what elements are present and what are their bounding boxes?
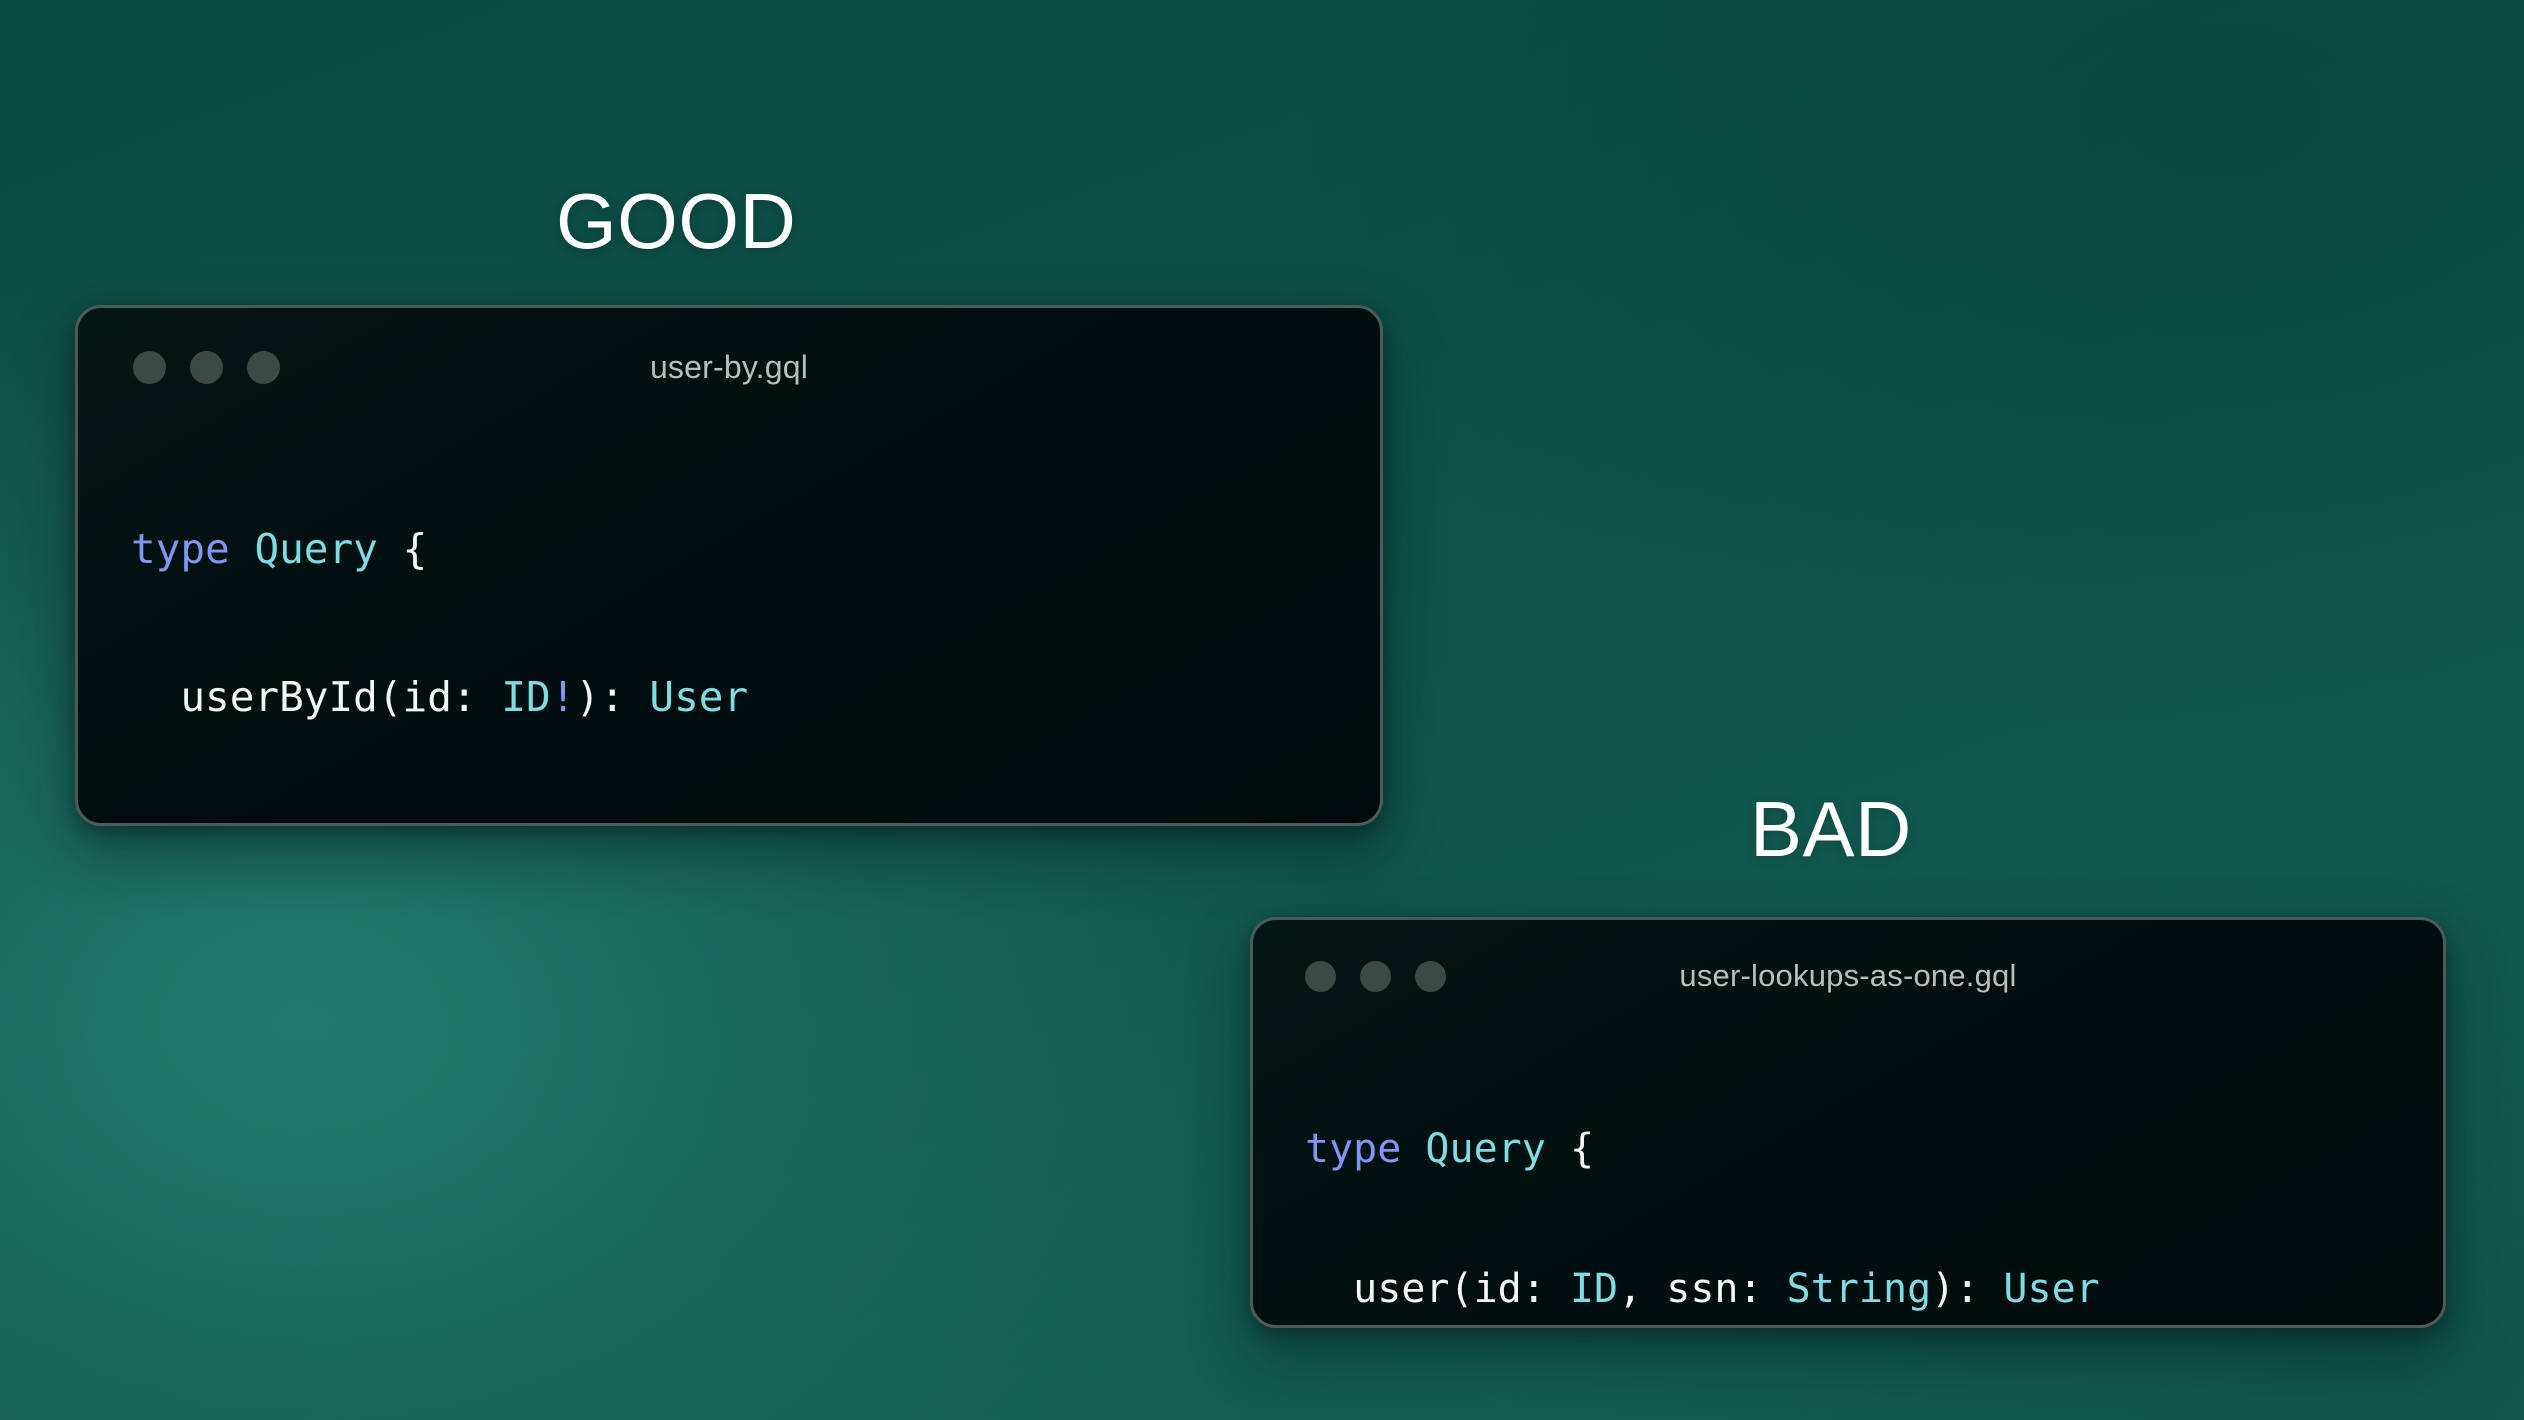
close-dot-icon[interactable] xyxy=(1305,961,1336,992)
code-token-keyword: type xyxy=(131,525,230,573)
code-token-separator: , ssn: xyxy=(1618,1266,1787,1312)
code-token-field: userById(id: xyxy=(180,673,501,721)
code-token-indent xyxy=(131,821,180,826)
code-token-close: ): xyxy=(723,821,797,826)
code-token-nonnull: ! xyxy=(699,821,724,826)
code-line: userBySSN(ssn: String!): User xyxy=(131,808,1380,826)
code-token-space xyxy=(1401,1126,1425,1172)
code-token-field: user(id: xyxy=(1353,1266,1570,1312)
window-titlebar-good: user-by.gql xyxy=(78,308,1380,426)
traffic-lights-bad xyxy=(1305,961,1446,992)
code-token-field: userBySSN(ssn: xyxy=(180,821,550,826)
code-line: userById(id: ID!): User xyxy=(131,660,1380,734)
maximize-dot-icon[interactable] xyxy=(247,351,280,384)
code-token-indent xyxy=(131,673,180,721)
code-token-return-type: User xyxy=(2003,1266,2099,1312)
slide-canvas: GOOD user-by.gql type Query { userById(i… xyxy=(0,0,2524,1420)
code-line: type Query { xyxy=(131,512,1380,586)
code-line: type Query { xyxy=(1305,1114,2443,1184)
code-token-close: ): xyxy=(575,673,649,721)
code-token-type-id: ID xyxy=(1570,1266,1618,1312)
code-line: user(id: ID, ssn: String): User xyxy=(1305,1254,2443,1324)
code-token-type-string: String xyxy=(1787,1266,1932,1312)
code-window-bad: user-lookups-as-one.gql type Query { use… xyxy=(1250,917,2446,1328)
code-token-indent xyxy=(1305,1266,1353,1312)
code-token-brace-open: { xyxy=(1570,1126,1594,1172)
code-token-space xyxy=(1546,1126,1570,1172)
section-label-good: GOOD xyxy=(556,182,796,260)
code-token-return-type: User xyxy=(798,821,897,826)
code-token-typename: Query xyxy=(254,525,377,573)
code-token-space xyxy=(378,525,403,573)
code-token-brace-open: { xyxy=(403,525,428,573)
code-content-good: type Query { userById(id: ID!): User use… xyxy=(78,426,1380,826)
code-token-type: String xyxy=(551,821,699,826)
minimize-dot-icon[interactable] xyxy=(190,351,223,384)
code-content-bad: type Query { user(id: ID, ssn: String): … xyxy=(1253,1032,2443,1328)
code-token-return-type: User xyxy=(649,673,748,721)
maximize-dot-icon[interactable] xyxy=(1415,961,1446,992)
code-token-close: ): xyxy=(1931,1266,2003,1312)
code-window-good: user-by.gql type Query { userById(id: ID… xyxy=(75,305,1383,826)
code-token-keyword: type xyxy=(1305,1126,1401,1172)
minimize-dot-icon[interactable] xyxy=(1360,961,1391,992)
window-titlebar-bad: user-lookups-as-one.gql xyxy=(1253,920,2443,1032)
code-token-type: ID xyxy=(501,673,550,721)
code-token-nonnull: ! xyxy=(551,673,576,721)
code-token-space xyxy=(230,525,255,573)
traffic-lights-good xyxy=(133,351,280,384)
code-token-typename: Query xyxy=(1425,1126,1545,1172)
close-dot-icon[interactable] xyxy=(133,351,166,384)
section-label-bad: BAD xyxy=(1750,790,1912,868)
